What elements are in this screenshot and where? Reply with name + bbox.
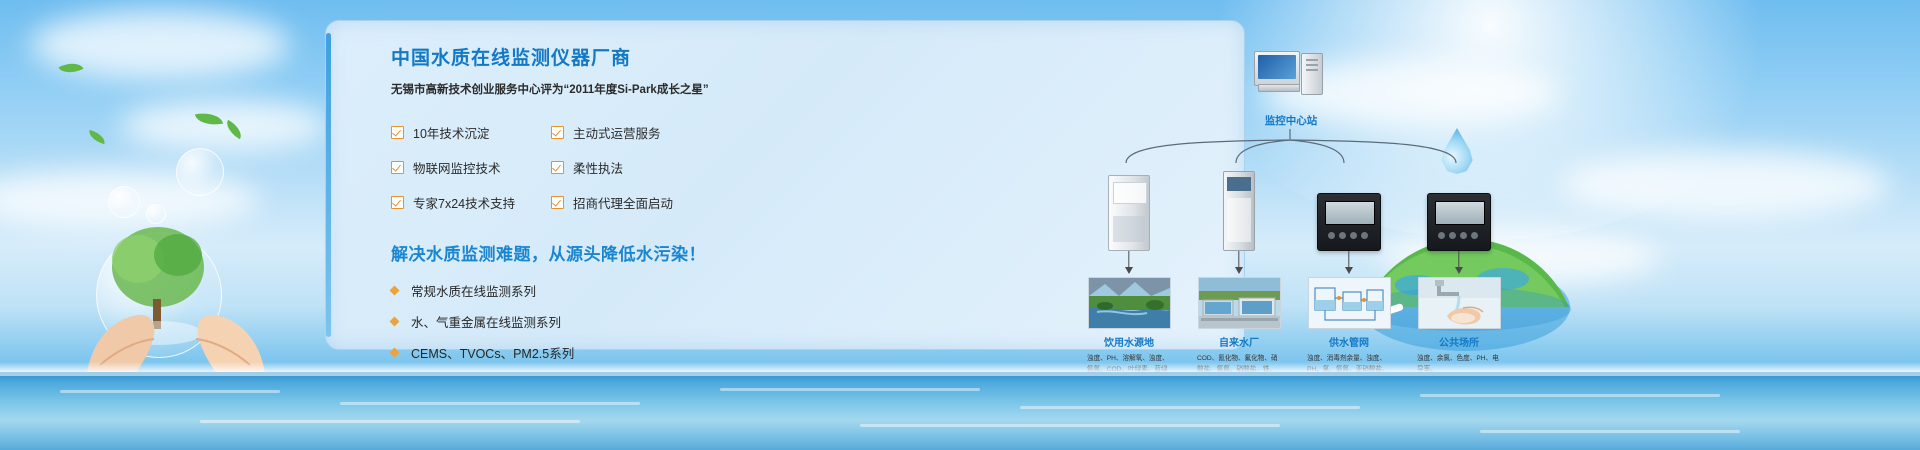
checklist-item: 10年技术沉淀	[391, 123, 551, 142]
checklist-item-label: 柔性执法	[573, 158, 623, 177]
checklist-item: 主动式运营服务	[551, 123, 711, 142]
river-landscape-photo	[1088, 277, 1171, 329]
checklist-item-label: 主动式运营服务	[573, 123, 661, 142]
center-station-label: 监控中心站	[1226, 113, 1356, 128]
leaf-decor	[87, 130, 107, 144]
keyboard-icon	[1258, 84, 1300, 92]
down-arrow-icon	[1416, 251, 1502, 277]
water-cabinet-icon	[1086, 163, 1172, 251]
diamond-bullet-icon	[390, 348, 400, 358]
checkbox-icon	[551, 196, 564, 209]
monitor-screen	[1258, 55, 1296, 79]
cloud-decor	[1560, 150, 1890, 220]
tower-icon	[1301, 53, 1323, 95]
down-arrow-icon	[1086, 251, 1172, 277]
panel-accent-bar	[326, 33, 331, 337]
checklist-item-label: 物联网监控技术	[413, 158, 501, 177]
topology-node: 饮用水源地 浊度、PH、溶解氧、浊度、氨氮、COD、叶绿素、蓝绿藻、生物毒性等。	[1086, 163, 1172, 387]
desktop-computer-icon	[1254, 51, 1326, 99]
monitor-icon	[1254, 51, 1300, 86]
controller-black-icon	[1416, 163, 1502, 251]
node-category-label: 公共场所	[1416, 334, 1502, 349]
page-subtitle: 无锡市高新技术创业服务中心评为“2011年度Si-Park成长之星”	[391, 81, 736, 97]
down-arrow-icon	[1196, 251, 1282, 277]
topology-node: 公共场所 浊度、余氯、色度、PH、电导率。	[1416, 163, 1502, 375]
list-item: 水、气重金属在线监测系列	[391, 312, 736, 331]
wave-decor	[1020, 406, 1360, 409]
checkbox-icon	[391, 196, 404, 209]
checkbox-icon	[391, 126, 404, 139]
list-item-label: 常规水质在线监测系列	[411, 281, 536, 300]
checklist-item: 专家7x24技术支持	[391, 193, 551, 212]
system-topology-diagram: 监控中心站 饮用水源地 浊度、	[1086, 43, 1526, 343]
wave-decor	[1420, 394, 1720, 397]
slogan-heading: 解决水质监测难题，从源头降低水污染！	[391, 240, 736, 265]
leaf-decor	[58, 58, 83, 78]
checkbox-icon	[391, 161, 404, 174]
down-arrow-icon	[1306, 251, 1392, 277]
checklist-item-label: 专家7x24技术支持	[413, 193, 515, 212]
wave-decor	[340, 402, 640, 405]
bubble-decor	[108, 186, 140, 218]
wave-decor	[860, 424, 1280, 427]
bubble-decor	[176, 148, 224, 196]
node-category-label: 供水管网	[1306, 334, 1392, 349]
list-item: CEMS、TVOCs、PM2.5系列	[391, 343, 736, 362]
page-title: 中国水质在线监测仪器厂商	[391, 43, 736, 70]
analyzer-rack-icon	[1196, 163, 1282, 251]
main-content-panel: 中国水质在线监测仪器厂商 无锡市高新技术创业服务中心评为“2011年度Si-Pa…	[325, 20, 1245, 350]
wave-decor	[1480, 430, 1740, 433]
list-item-label: 水、气重金属在线监测系列	[411, 312, 561, 331]
feature-checklist: 10年技术沉淀 主动式运营服务 物联网监控技术 柔性执法 专家7x24技术支持 …	[391, 123, 736, 212]
horizon-line	[0, 362, 1920, 372]
checkbox-icon	[551, 126, 564, 139]
cloud-decor	[120, 100, 330, 152]
water-treatment-plant-photo	[1198, 277, 1281, 329]
water-strip	[0, 372, 1920, 450]
left-text-column: 中国水质在线监测仪器厂商 无锡市高新技术创业服务中心评为“2011年度Si-Pa…	[391, 43, 736, 405]
wave-decor	[60, 390, 280, 393]
list-item: 常规水质在线监测系列	[391, 281, 736, 300]
diamond-bullet-icon	[390, 286, 400, 296]
checklist-item: 物联网监控技术	[391, 158, 551, 177]
leaf-decor	[223, 120, 246, 140]
list-item-label: CEMS、TVOCs、PM2.5系列	[411, 343, 574, 362]
topology-node: 自来水厂 COD、氰化物、氟化物、硝酸盐、氨氮、硝酸盐、铁、锰、生物毒性等。	[1196, 163, 1282, 387]
checklist-item-label: 10年技术沉淀	[413, 123, 489, 142]
checklist-item-label: 招商代理全面启动	[573, 193, 673, 212]
checkbox-icon	[551, 161, 564, 174]
topology-node: 供水管网 浊度、消毒剂余量、浊度、PH、氯、氨氮、亚硝酸盐、电导率、压力、流量等…	[1306, 163, 1392, 387]
node-category-label: 自来水厂	[1196, 334, 1282, 349]
checklist-item: 招商代理全面启动	[551, 193, 711, 212]
node-category-label: 饮用水源地	[1086, 334, 1172, 349]
controller-black-icon	[1306, 163, 1392, 251]
leaf-decor	[195, 110, 223, 128]
wave-decor	[720, 388, 980, 391]
faucet-handwash-photo	[1418, 277, 1501, 329]
pipe-network-diagram-photo	[1308, 277, 1391, 329]
diamond-bullet-icon	[390, 317, 400, 327]
checklist-item: 柔性执法	[551, 158, 711, 177]
wave-decor	[200, 420, 580, 423]
